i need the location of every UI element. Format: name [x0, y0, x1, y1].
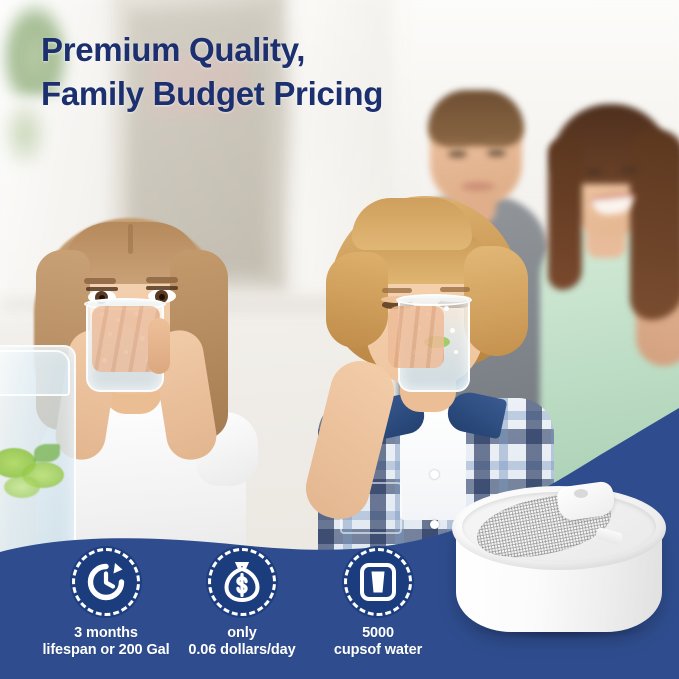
mother-hair-side [630, 130, 679, 320]
feature-lifespan-line2: lifespan or 200 Gal [42, 642, 169, 659]
father-eye-left [448, 150, 467, 158]
father-brow-right [484, 138, 509, 144]
boy-curl-left [326, 252, 388, 348]
girl-brow-left [84, 278, 116, 284]
pitcher-neck [0, 350, 70, 396]
girl-lash-right [146, 286, 178, 290]
product-banner: 3 months lifespan or 200 Gal only 0.06 d… [0, 0, 679, 679]
money-bag-badge [208, 548, 276, 616]
feature-lifespan-line1: 3 months [42, 625, 169, 642]
feature-cost: only 0.06 dollars/day [172, 548, 312, 659]
father-eye-right [487, 149, 506, 157]
feature-cost-line1: only [188, 625, 295, 642]
filter-cartridge-product [446, 470, 672, 650]
boy-hand [388, 306, 444, 368]
mint-leaf [34, 444, 60, 462]
feature-lifespan-text: 3 months lifespan or 200 Gal [42, 625, 169, 659]
water-glass-badge [344, 548, 412, 616]
clock-rotate-icon [85, 561, 127, 603]
feature-capacity: 5000 cupsof water [308, 548, 448, 659]
father-mouth [461, 182, 495, 191]
girl-pupil-right [159, 294, 165, 300]
boy-brow-right [440, 287, 470, 292]
mother-eye-left [585, 168, 603, 176]
boy-curl-right [464, 246, 528, 356]
boy-curl-top [352, 198, 472, 250]
product-cap-hole [574, 489, 588, 498]
feature-capacity-text: 5000 cupsof water [334, 625, 422, 659]
feature-capacity-line1: 5000 [334, 625, 422, 642]
money-bag-icon [222, 561, 262, 603]
girl-lash-left [86, 287, 118, 291]
feature-list: 3 months lifespan or 200 Gal only 0.06 d… [0, 548, 460, 679]
boy-shirt-button [430, 470, 439, 479]
water-glass-icon [358, 561, 398, 603]
girl-brow-right [146, 277, 178, 283]
feature-cost-text: only 0.06 dollars/day [188, 625, 295, 659]
girl-hair-part [128, 224, 133, 254]
mother-hair-left [548, 140, 582, 290]
feature-cost-line2: 0.06 dollars/day [188, 642, 295, 659]
clock-rotate-badge [72, 548, 140, 616]
lime-slice [4, 476, 40, 498]
feature-capacity-line2: cupsof water [334, 642, 422, 659]
boy-shirt-button [430, 520, 439, 529]
page-title: Premium Quality, Family Budget Pricing [41, 28, 561, 116]
headline-line1: Premium Quality, [41, 31, 305, 68]
girl-thumb [148, 318, 170, 374]
boy-glass-rim [396, 294, 472, 306]
boy-brow-left [382, 288, 412, 293]
feature-lifespan: 3 months lifespan or 200 Gal [36, 548, 176, 659]
headline-line2: Family Budget Pricing [41, 72, 561, 116]
mother-eye-right [620, 166, 638, 174]
father-brow-left [444, 139, 469, 145]
